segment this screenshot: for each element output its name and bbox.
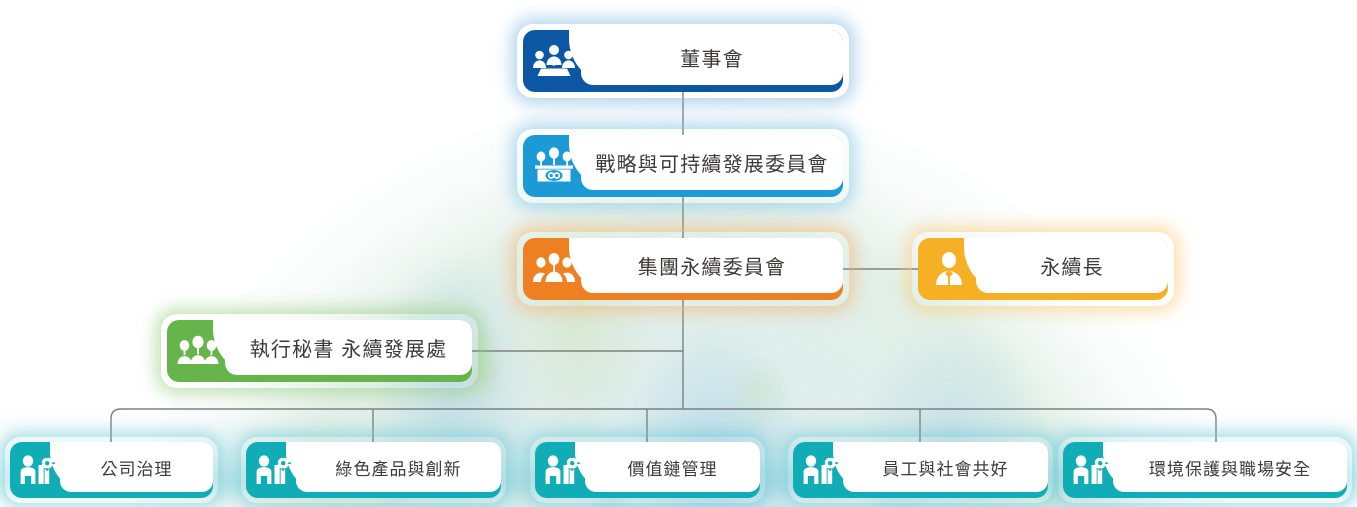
node-wg-value-chain-label: 價值鏈管理 (585, 455, 760, 480)
person-gear-icon (246, 442, 300, 498)
node-wg-employee-society-label: 員工與社會共好 (843, 455, 1048, 480)
wg-employee-society-panel: 員工與社會共好 (843, 442, 1048, 492)
node-chief-sustainability-officer-label: 永續長 (976, 251, 1168, 280)
node-board[interactable]: 董事會 (523, 30, 843, 92)
group-committee-panel: 集團永續委員會 (581, 238, 843, 293)
node-chief-sustainability-officer[interactable]: 永續長 (918, 238, 1168, 300)
node-strategy-committee-label: 戰略與可持續發展委員會 (581, 148, 843, 177)
node-wg-environment-safety[interactable]: 環境保護與職場安全 (1063, 442, 1347, 498)
node-wg-value-chain[interactable]: 價值鏈管理 (535, 442, 760, 498)
node-wg-environment-safety-label: 環境保護與職場安全 (1113, 455, 1347, 480)
person-gear-icon (10, 442, 64, 498)
committee-group-icon (523, 238, 585, 300)
node-executive-secretary[interactable]: 執行秘書 永續發展處 (167, 320, 472, 382)
board-panel: 董事會 (581, 30, 843, 85)
executive-person-icon (918, 238, 980, 300)
node-wg-employee-society[interactable]: 員工與社會共好 (793, 442, 1048, 498)
node-wg-corporate-governance-label: 公司治理 (60, 455, 213, 480)
person-gear-icon (535, 442, 589, 498)
team-group-icon (167, 320, 229, 382)
node-executive-secretary-label: 執行秘書 永續發展處 (225, 333, 472, 362)
wg-green-products-panel: 綠色產品與創新 (296, 442, 501, 492)
person-gear-icon (793, 442, 847, 498)
wg-environment-safety-panel: 環境保護與職場安全 (1113, 442, 1347, 492)
node-board-label: 董事會 (581, 43, 843, 72)
wg-value-chain-panel: 價值鏈管理 (585, 442, 760, 492)
node-wg-green-products-label: 綠色產品與創新 (296, 455, 501, 480)
node-group-sustainability-committee-label: 集團永續委員會 (581, 251, 843, 280)
node-strategy-committee[interactable]: 戰略與可持續發展委員會 (523, 135, 843, 197)
person-gear-icon (1063, 442, 1117, 498)
node-wg-green-products[interactable]: 綠色產品與創新 (246, 442, 501, 498)
committee-podium-icon (523, 135, 585, 197)
node-wg-corporate-governance[interactable]: 公司治理 (10, 442, 213, 498)
node-group-sustainability-committee[interactable]: 集團永續委員會 (523, 238, 843, 300)
cso-panel: 永續長 (976, 238, 1168, 293)
connector-working-group-bus (111, 409, 1216, 442)
board-meeting-icon (523, 30, 585, 92)
org-chart-canvas: 董事會 戰略與可持續發展委員會 (0, 0, 1357, 507)
wg-corporate-governance-panel: 公司治理 (60, 442, 213, 492)
strategy-panel: 戰略與可持續發展委員會 (581, 135, 843, 190)
secretary-panel: 執行秘書 永續發展處 (225, 320, 472, 375)
